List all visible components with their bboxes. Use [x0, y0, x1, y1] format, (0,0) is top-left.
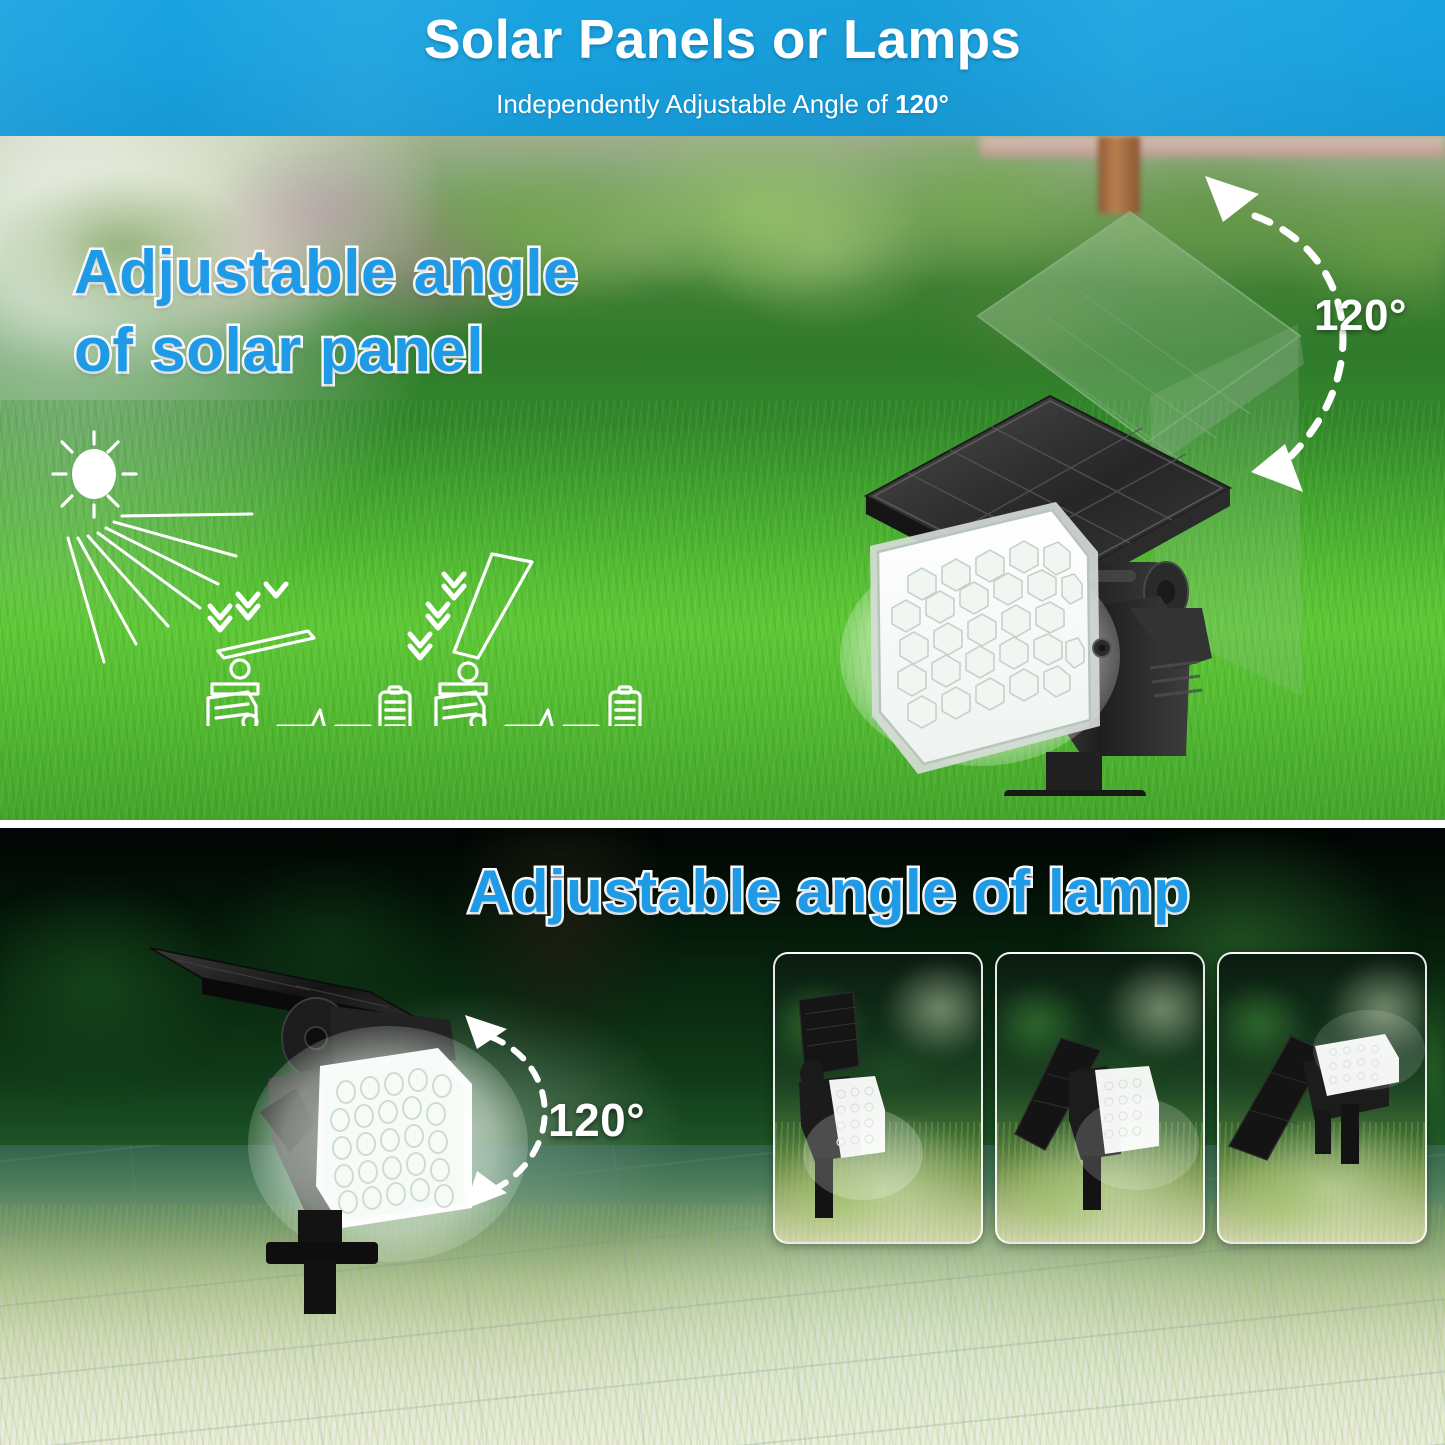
battery-icon-1: [380, 687, 410, 726]
led-head-illuminated: [316, 1048, 472, 1228]
solar-lamp-flat-panel-icon: [208, 631, 314, 726]
top-feature-panel: Adjustable angle of solar panel: [0, 136, 1445, 820]
thumbnail-lamp-angle-flat[interactable]: [1217, 952, 1427, 1244]
sun-rays: [68, 514, 252, 662]
lamp-tilted: [1015, 1038, 1199, 1210]
arrow-head-up: [1205, 176, 1259, 222]
bottom-feature-panel: Adjustable angle of lamp: [0, 828, 1445, 1445]
lamp-angle-thumbnails: [773, 952, 1427, 1244]
top-panel-headline: Adjustable angle of solar panel: [74, 234, 578, 390]
arrow-head-down: [465, 1171, 507, 1209]
thumbnail-lamp-angle-upright[interactable]: [773, 952, 983, 1244]
header-banner: Solar Panels or Lamps Independently Adju…: [0, 0, 1445, 136]
page-title: Solar Panels or Lamps: [0, 7, 1445, 71]
charging-waveform-2: [506, 710, 598, 726]
bottom-panel-headline: Adjustable angle of lamp: [468, 856, 1190, 928]
lamp-upright: [799, 992, 923, 1218]
subtitle-angle-value: 120°: [895, 89, 949, 119]
background-fence-rail: [980, 136, 1445, 158]
sun-icon: [53, 432, 136, 517]
charging-waveform-1: [278, 710, 370, 726]
incoming-light-chevrons-1: [210, 584, 286, 630]
led-head: [870, 502, 1100, 774]
solar-charging-diagram: [40, 426, 740, 726]
angle-arc: [491, 1037, 545, 1189]
panel-angle-label: 120°: [1314, 291, 1407, 341]
thumbnail-lamp-angle-tilted[interactable]: [995, 952, 1205, 1244]
subtitle-prefix: Independently Adjustable Angle of: [496, 89, 895, 119]
panel-divider: [0, 820, 1445, 828]
battery-icon-2: [610, 687, 640, 726]
lamp-angle-label: 120°: [548, 1093, 645, 1147]
lamp-flat: [1229, 1010, 1425, 1164]
page-subtitle: Independently Adjustable Angle of 120°: [0, 88, 1445, 120]
adjust-knob: [1093, 639, 1111, 657]
